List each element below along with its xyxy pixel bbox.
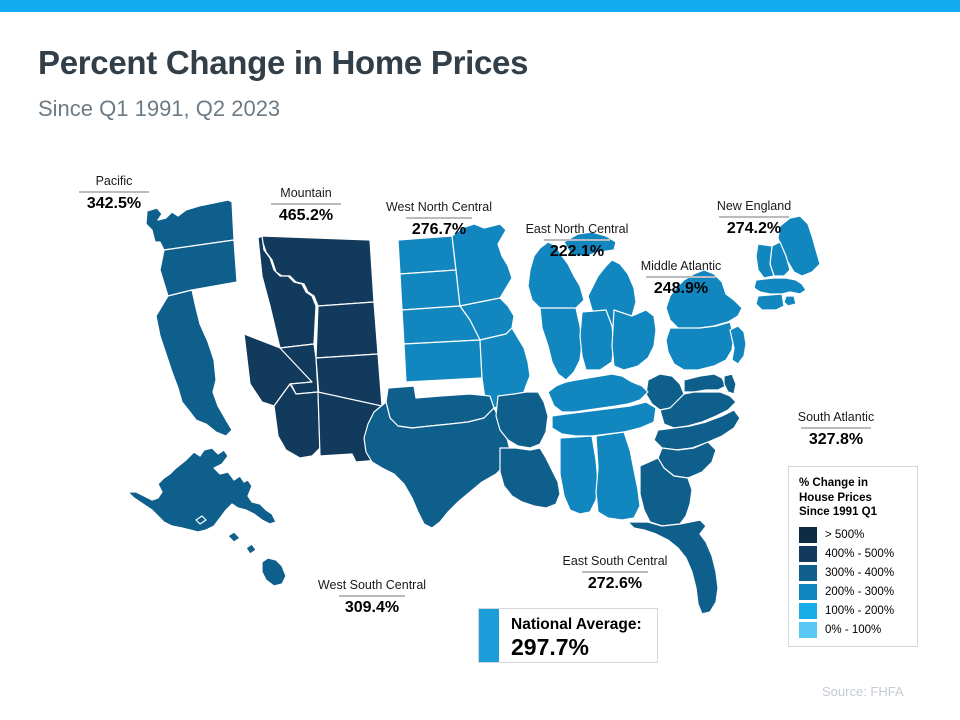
legend-label: > 500% <box>825 529 864 541</box>
callout-value: 276.7% <box>368 220 510 239</box>
state-il <box>540 308 582 380</box>
legend-swatch <box>799 546 817 562</box>
callout-value: 309.4% <box>302 598 442 617</box>
legend-label: 300% - 400% <box>825 567 894 579</box>
callout-rule <box>646 276 716 278</box>
legend-item: 200% - 300% <box>799 584 909 600</box>
callout-mountain: Mountain 465.2% <box>254 186 358 225</box>
national-average-accent-bar <box>479 609 499 662</box>
state-oh <box>612 310 656 370</box>
callout-rule <box>271 203 341 205</box>
region-west-south-central <box>364 386 560 528</box>
callout-rule <box>719 216 789 218</box>
state-al <box>596 432 640 520</box>
state-ct <box>756 294 784 310</box>
state-de <box>724 374 736 394</box>
region-east-south-central <box>548 374 656 520</box>
region-mountain <box>244 236 382 462</box>
state-ms <box>560 436 598 514</box>
state-pa <box>666 322 734 370</box>
callout-name: East South Central <box>546 554 684 569</box>
legend-item: 100% - 200% <box>799 603 909 619</box>
legend-title-line-2: House Prices <box>799 491 909 506</box>
legend-label: 100% - 200% <box>825 605 894 617</box>
page-title: Percent Change in Home Prices <box>38 44 528 82</box>
legend-item: > 500% <box>799 527 909 543</box>
state-ak <box>128 448 276 532</box>
legend-title: % Change in House Prices Since 1991 Q1 <box>799 476 909 520</box>
national-average-value: 297.7% <box>511 634 657 660</box>
callout-west-south-central: West South Central 309.4% <box>302 578 442 617</box>
callout-name: West South Central <box>302 578 442 593</box>
callout-value: 274.2% <box>700 219 808 238</box>
top-accent-bar <box>0 0 960 12</box>
legend-title-line-3: Since 1991 Q1 <box>799 505 909 520</box>
callout-rule <box>406 217 472 219</box>
callout-name: New England <box>700 199 808 214</box>
state-la <box>500 448 560 508</box>
legend-label: 0% - 100% <box>825 624 881 636</box>
callout-middle-atlantic: Middle Atlantic 248.9% <box>622 259 740 298</box>
state-ca <box>156 290 232 436</box>
legend-item: 400% - 500% <box>799 546 909 562</box>
state-ks <box>404 340 482 382</box>
legend-swatch <box>799 603 817 619</box>
national-average-text: National Average: 297.7% <box>499 609 657 662</box>
callout-rule <box>79 191 149 193</box>
callout-value: 272.6% <box>546 574 684 593</box>
callout-name: South Atlantic <box>783 410 889 425</box>
state-md <box>684 374 726 392</box>
source-attribution: Source: FHFA <box>822 684 904 699</box>
legend-swatch <box>799 584 817 600</box>
state-hi <box>228 532 286 586</box>
legend-swatch <box>799 565 817 581</box>
legend-title-line-1: % Change in <box>799 476 909 491</box>
callout-south-atlantic: South Atlantic 327.8% <box>783 410 889 449</box>
state-or <box>160 240 237 296</box>
callout-west-north-central: West North Central 276.7% <box>368 200 510 239</box>
legend-label: 200% - 300% <box>825 586 894 598</box>
callout-pacific: Pacific 342.5% <box>62 174 166 213</box>
legend-item: 300% - 400% <box>799 565 909 581</box>
legend-swatch <box>799 622 817 638</box>
state-nd <box>398 236 456 274</box>
callout-rule <box>801 427 871 429</box>
callout-name: Mountain <box>254 186 358 201</box>
callout-value: 465.2% <box>254 206 358 225</box>
national-average-label: National Average: <box>511 616 657 634</box>
state-ma <box>754 278 806 294</box>
state-wy <box>316 302 378 358</box>
callout-value: 342.5% <box>62 194 166 213</box>
callout-value: 248.9% <box>622 279 740 298</box>
legend-label: 400% - 500% <box>825 548 894 560</box>
page-subtitle: Since Q1 1991, Q2 2023 <box>38 96 280 122</box>
callout-rule <box>582 571 648 573</box>
state-sd <box>400 270 460 310</box>
national-average-box: National Average: 297.7% <box>478 608 658 663</box>
state-in <box>580 310 614 370</box>
callout-name: Middle Atlantic <box>622 259 740 274</box>
callout-name: West North Central <box>368 200 510 215</box>
callout-east-south-central: East South Central 272.6% <box>546 554 684 593</box>
callout-rule <box>544 239 610 241</box>
callout-east-north-central: East North Central 222.1% <box>508 222 646 261</box>
callout-new-england: New England 274.2% <box>700 199 808 238</box>
callout-value: 327.8% <box>783 430 889 449</box>
callout-name: East North Central <box>508 222 646 237</box>
legend-item: 0% - 100% <box>799 622 909 638</box>
map-legend: % Change in House Prices Since 1991 Q1 >… <box>788 466 918 647</box>
state-ri <box>784 296 796 306</box>
callout-rule <box>339 595 405 597</box>
legend-swatch <box>799 527 817 543</box>
callout-name: Pacific <box>62 174 166 189</box>
